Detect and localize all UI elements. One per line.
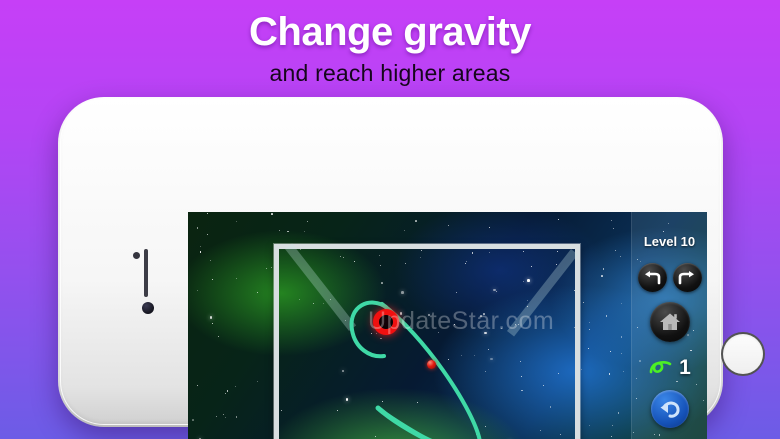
arrow-right-bent-icon — [678, 271, 696, 285]
device-home-button[interactable] — [721, 332, 765, 376]
game-hud-panel: Level 10 — [631, 212, 707, 439]
target-ring-object — [373, 309, 399, 335]
level-label: Level 10 — [632, 212, 707, 249]
front-camera-icon — [142, 302, 154, 314]
undo-button[interactable] — [651, 390, 689, 428]
line-count-value: 1 — [679, 356, 691, 380]
smartphone-device-mockup: UpdateStar.com Level 10 — [58, 97, 723, 427]
next-level-button[interactable] — [673, 263, 702, 292]
proximity-sensor-icon — [133, 252, 140, 259]
green-squiggle-line-icon — [648, 358, 674, 378]
promo-subheadline: and reach higher areas — [0, 58, 780, 88]
home-icon — [658, 311, 682, 333]
level-nav-row — [632, 263, 707, 292]
previous-level-button[interactable] — [638, 263, 667, 292]
line-counter: 1 — [632, 356, 707, 380]
device-screen: UpdateStar.com Level 10 — [188, 212, 707, 439]
promo-headline: Change gravity — [0, 0, 780, 58]
earpiece-speaker-icon — [144, 249, 148, 297]
promo-text-block: Change gravity and reach higher areas — [0, 0, 780, 88]
home-button[interactable] — [650, 302, 690, 342]
undo-arrow-icon — [658, 398, 682, 420]
arrow-left-bent-icon — [643, 271, 661, 285]
red-ball-object — [427, 360, 436, 369]
gravity-path-curve — [274, 244, 580, 439]
